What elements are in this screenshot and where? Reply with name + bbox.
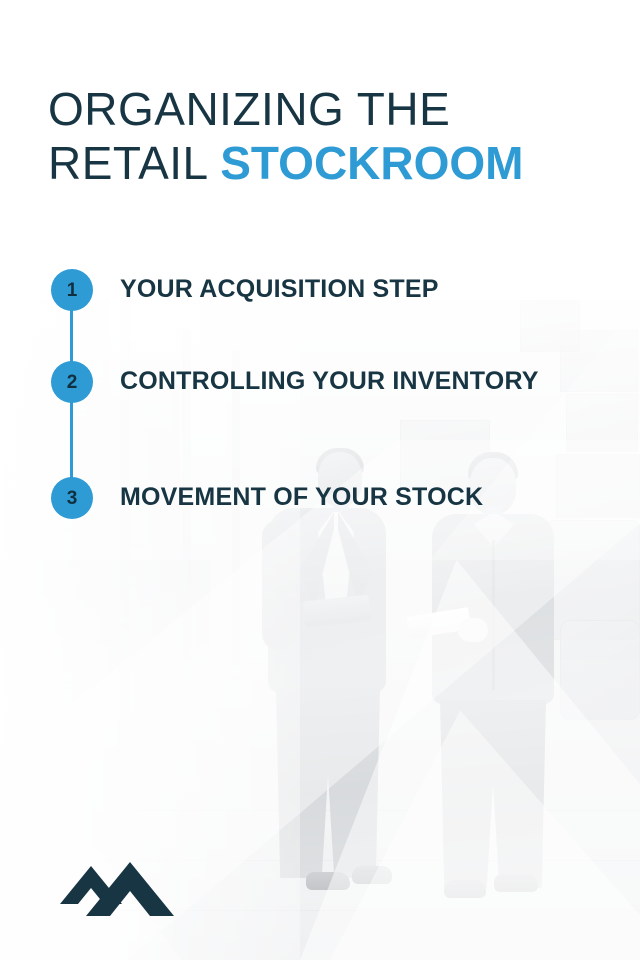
infographic-poster: ORGANIZING THE RETAIL STOCKROOM 1 YOUR A… [0,0,640,960]
list-item[interactable]: 2 CONTROLLING YOUR INVENTORY [51,361,539,403]
step-label-1: YOUR ACQUISITION STEP [120,269,439,305]
list-item[interactable]: 3 MOVEMENT OF YOUR STOCK [51,477,483,519]
steps-list: 1 YOUR ACQUISITION STEP 2 CONTROLLING YO… [0,0,640,960]
step-connector-line [70,392,73,486]
mountain-peaks-logo [58,860,176,922]
step-label-2: CONTROLLING YOUR INVENTORY [120,361,539,397]
step-badge-2: 2 [51,361,93,403]
step-badge-1: 1 [51,269,93,311]
step-badge-3: 3 [51,477,93,519]
step-label-3: MOVEMENT OF YOUR STOCK [120,477,483,513]
list-item[interactable]: 1 YOUR ACQUISITION STEP [51,269,439,311]
